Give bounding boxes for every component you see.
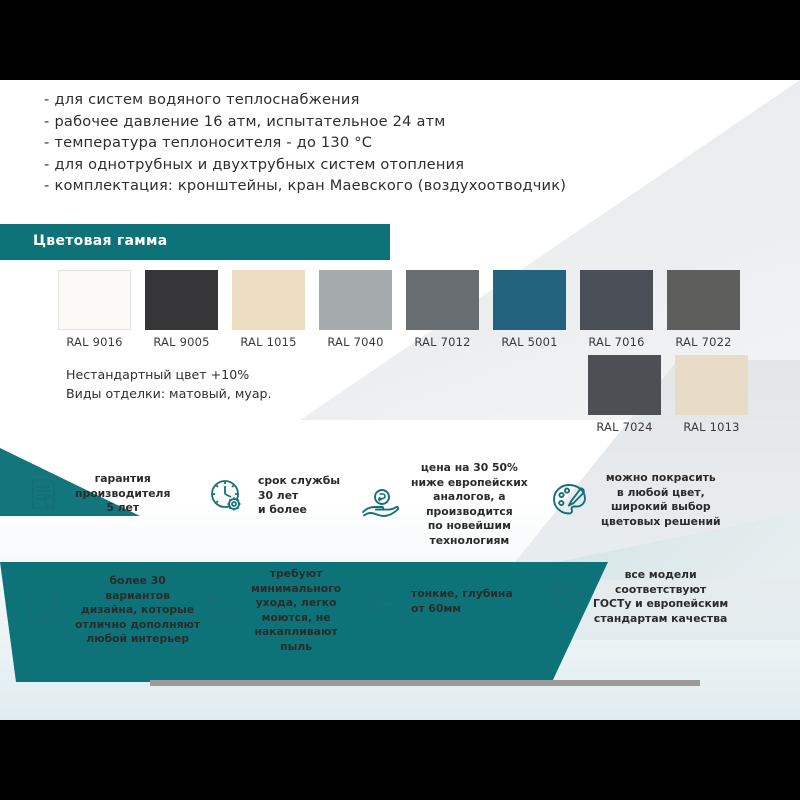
spec-text: для систем водяного теплоснабжения (54, 91, 359, 108)
spec-item: -для однотрубных и двухтрубных систем от… (44, 154, 566, 176)
spec-text: рабочее давление 16 атм, испытательное 2… (54, 113, 445, 130)
paint-palette-icon (548, 478, 592, 522)
ral-swatch-label: RAL 7024 (588, 420, 661, 434)
spec-text: комплектация: кронштейны, кран Маевского… (54, 177, 566, 194)
spec-dash: - (44, 113, 49, 130)
ral-swatch-label: RAL 9016 (58, 335, 131, 349)
ral-swatch-chip (667, 270, 740, 330)
ral-swatch[interactable]: RAL 7012 (406, 270, 479, 349)
feature-paint: можно покрасить в любой цвет, широкий вы… (548, 471, 778, 529)
spec-dash: - (44, 134, 49, 151)
ral-swatch[interactable]: RAL 7024 (588, 355, 661, 434)
ral-swatch-chip (493, 270, 566, 330)
ral-swatch-label: RAL 7022 (667, 335, 740, 349)
ral-swatch-label: RAL 7040 (319, 335, 392, 349)
depth-arrows-icon (358, 580, 402, 624)
feature-price-text: цена на 30 50% ниже европейских аналогов… (411, 461, 528, 549)
spec-item: -комплектация: кронштейны, кран Маевског… (44, 175, 566, 197)
ral-swatch-chip (58, 270, 131, 330)
ral-swatch-label: RAL 7016 (580, 335, 653, 349)
ral-swatch-chip (588, 355, 661, 415)
ral-swatch[interactable]: RAL 1013 (675, 355, 748, 434)
spray-sponge-icon (198, 589, 242, 633)
certificate-icon (22, 472, 66, 516)
spec-dash: - (44, 177, 49, 194)
feature-depth-text: тонкие, глубина от 60мм (411, 587, 513, 616)
ral-swatch-row-2: RAL 7024 RAL 1013 (588, 355, 748, 434)
spec-dash: - (44, 91, 49, 108)
features-row-2: более 30 вариантов дизайна, которые отли… (0, 558, 800, 658)
color-notes: Нестандартный цвет +10% Виды отделки: ма… (66, 365, 272, 403)
feature-quality-standards-text: все модели соответствуют ГОСТу и европей… (593, 568, 728, 626)
note-line: Нестандартный цвет +10% (66, 365, 272, 384)
feature-warranty-text: гарантия производителя 5 лет (75, 472, 170, 516)
spec-item: -для систем водяного теплоснабжения (44, 89, 566, 111)
ral-swatch[interactable]: RAL 5001 (493, 270, 566, 349)
feature-service-life-text: срок службы 30 лет и более (258, 474, 340, 518)
ral-swatch-row-1: RAL 9016 RAL 9005 RAL 1015 RAL 7040 RAL … (58, 270, 740, 349)
ral-swatch-chip (675, 355, 748, 415)
feature-minimal-care: требуют минимального ухода, легко моются… (198, 567, 363, 655)
ral-swatch-label: RAL 9005 (145, 335, 218, 349)
ral-swatch[interactable]: RAL 1015 (232, 270, 305, 349)
feature-price: цена на 30 50% ниже европейских аналогов… (358, 461, 553, 549)
feature-paint-text: можно покрасить в любой цвет, широкий вы… (601, 471, 721, 529)
spec-item: -температура теплоносителя - до 130 °C (44, 132, 566, 154)
decorative-bottom-shadow-line (150, 680, 700, 686)
pencil-design-icon (22, 588, 66, 632)
ral-swatch-chip (406, 270, 479, 330)
feature-design-variants-text: более 30 вариантов дизайна, которые отли… (75, 574, 200, 647)
ral-swatch-label: RAL 1013 (675, 420, 748, 434)
ral-swatch[interactable]: RAL 7022 (667, 270, 740, 349)
ral-swatch[interactable]: RAL 7016 (580, 270, 653, 349)
feature-service-life: срок службы 30 лет и более (205, 474, 355, 518)
spec-text: температура теплоносителя - до 130 °C (54, 134, 372, 151)
clock-gear-icon (205, 474, 249, 518)
feature-warranty: гарантия производителя 5 лет (22, 472, 197, 516)
ral-swatch-label: RAL 7012 (406, 335, 479, 349)
hand-ruble-icon (358, 483, 402, 527)
ral-swatch-chip (319, 270, 392, 330)
quality-thumbsup-icon (540, 575, 584, 619)
features-section: гарантия производителя 5 лет (0, 458, 800, 658)
feature-minimal-care-text: требуют минимального ухода, легко моются… (251, 567, 341, 655)
ral-swatch-label: RAL 5001 (493, 335, 566, 349)
spec-dash: - (44, 156, 49, 173)
spec-text: для однотрубных и двухтрубных систем ото… (54, 156, 464, 173)
slide-canvas: -для систем водяного теплоснабжения -раб… (0, 80, 800, 720)
ral-swatch-label: RAL 1015 (232, 335, 305, 349)
ral-swatch-chip (145, 270, 218, 330)
ral-swatch[interactable]: RAL 7040 (319, 270, 392, 349)
color-gamut-heading-bar: Цветовая гамма (0, 224, 390, 260)
ral-swatch[interactable]: RAL 9005 (145, 270, 218, 349)
spec-item: -рабочее давление 16 атм, испытательное … (44, 111, 566, 133)
ral-swatch[interactable]: RAL 9016 (58, 270, 131, 349)
specification-list: -для систем водяного теплоснабжения -раб… (44, 89, 566, 197)
feature-quality-standards: все модели соответствуют ГОСТу и европей… (540, 568, 790, 626)
color-gamut-heading-label: Цветовая гамма (33, 233, 168, 249)
feature-depth: тонкие, глубина от 60мм (358, 580, 533, 624)
features-row-1: гарантия производителя 5 лет (0, 458, 800, 558)
feature-design-variants: более 30 вариантов дизайна, которые отли… (22, 574, 207, 647)
ral-swatch-chip (580, 270, 653, 330)
note-line: Виды отделки: матовый, муар. (66, 384, 272, 403)
ral-swatch-chip (232, 270, 305, 330)
